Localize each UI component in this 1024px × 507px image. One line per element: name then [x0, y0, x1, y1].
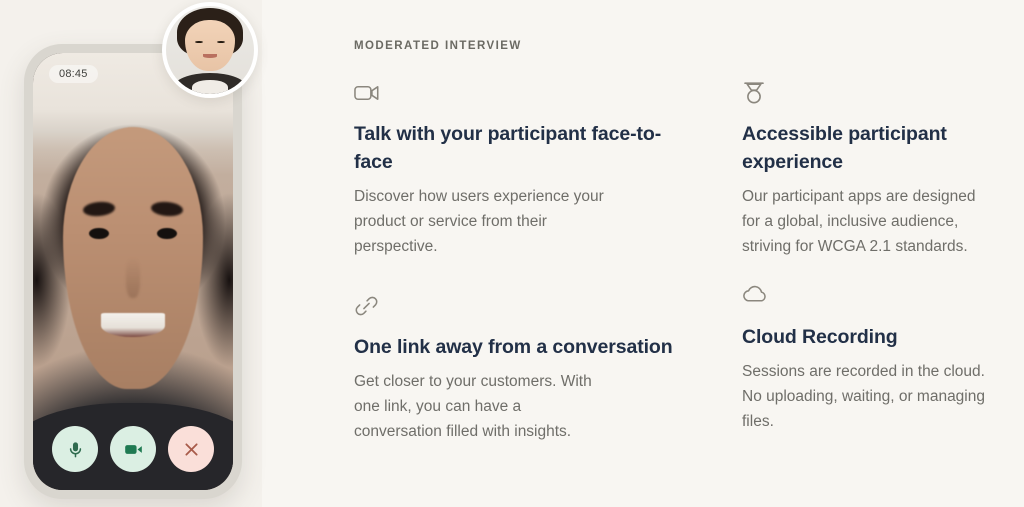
feature-section-page: 08:45 — [0, 0, 1024, 507]
feature-card-accessible-experience: Accessible participant experience Our pa… — [712, 80, 994, 259]
feature-title: Cloud Recording — [742, 323, 994, 351]
video-camera-icon — [354, 80, 684, 106]
feature-title: One link away from a conversation — [354, 333, 684, 361]
avatar-collar-shape — [192, 80, 227, 94]
cloud-icon — [742, 283, 994, 309]
video-nose-shape — [126, 258, 140, 297]
feature-title: Talk with your participant face-to-face — [354, 120, 684, 177]
avatar-mouth-shape — [203, 54, 217, 58]
video-smile-shape — [101, 313, 165, 337]
microphone-icon — [66, 440, 85, 459]
features-content: MODERATED INTERVIEW Talk with your parti… — [262, 0, 1024, 507]
microphone-button[interactable] — [52, 426, 98, 472]
end-call-button[interactable] — [168, 426, 214, 472]
video-eye-left — [89, 228, 109, 239]
feature-title: Accessible participant experience — [742, 120, 994, 177]
call-controls — [33, 426, 233, 472]
phone-screen: 08:45 — [33, 53, 233, 490]
feature-body: Our participant apps are designed for a … — [742, 184, 990, 260]
phone-mockup-panel: 08:45 — [0, 0, 262, 507]
close-x-icon — [182, 440, 201, 459]
participant-video-feed — [33, 53, 233, 490]
accessibility-icon — [742, 80, 994, 106]
feature-card-one-link-away: One link away from a conversation Get cl… — [354, 259, 684, 444]
section-eyebrow: MODERATED INTERVIEW — [354, 40, 994, 52]
feature-body: Sessions are recorded in the cloud. No u… — [742, 359, 990, 435]
feature-grid: Talk with your participant face-to-face … — [354, 80, 994, 444]
feature-card-cloud-recording: Cloud Recording Sessions are recorded in… — [712, 259, 994, 444]
link-icon — [354, 293, 684, 319]
avatar-face-shape — [185, 20, 234, 71]
feature-body: Get closer to your customers. With one l… — [354, 369, 606, 445]
camera-button[interactable] — [110, 426, 156, 472]
feature-card-talk-face-to-face: Talk with your participant face-to-face … — [354, 80, 684, 259]
status-time: 08:45 — [49, 65, 98, 83]
video-camera-icon — [123, 439, 144, 460]
moderator-avatar — [162, 2, 258, 98]
feature-body: Discover how users experience your produ… — [354, 184, 606, 260]
phone-frame: 08:45 — [24, 44, 242, 499]
avatar-image — [166, 6, 254, 94]
video-eye-right — [157, 228, 177, 239]
